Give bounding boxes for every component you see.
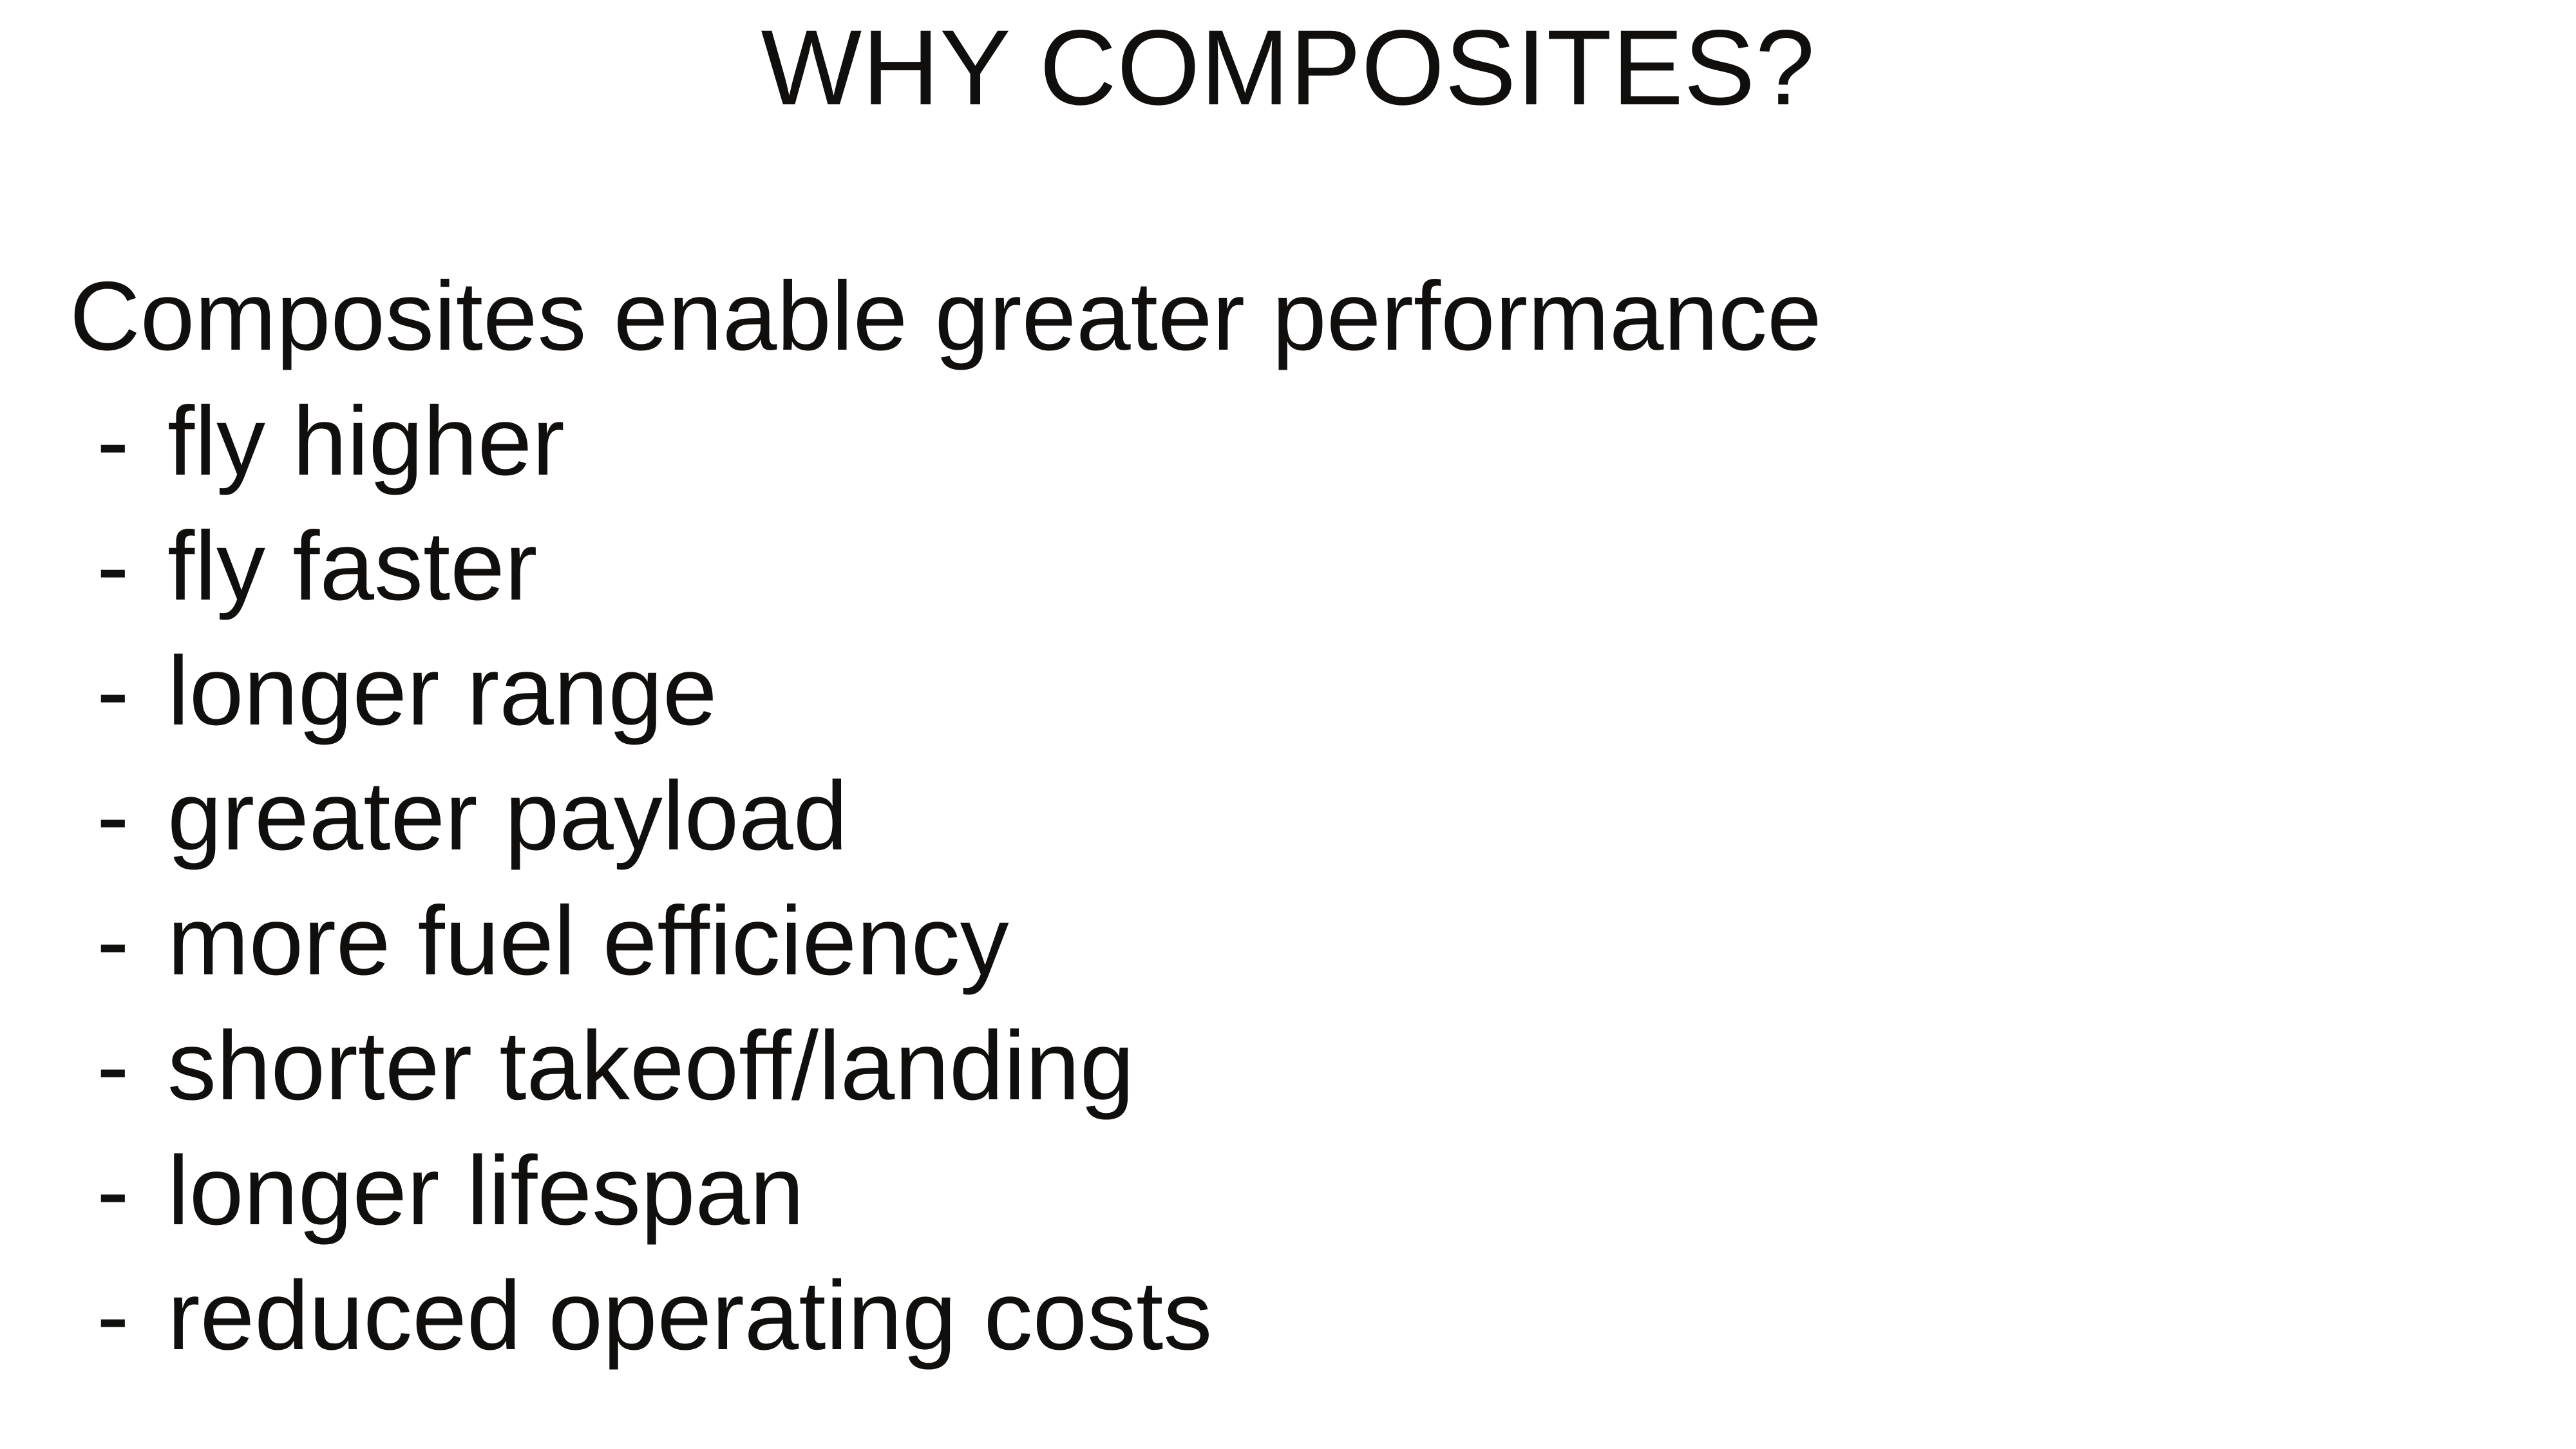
- list-item-label: shorter takeoff/landing: [167, 1003, 1134, 1128]
- list-item-label: longer range: [167, 629, 717, 753]
- dash-bullet-icon: -: [70, 753, 167, 878]
- slide-title: WHY COMPOSITES?: [0, 0, 2576, 137]
- list-item-label: greater payload: [167, 753, 848, 878]
- dash-bullet-icon: -: [70, 504, 167, 629]
- list-item-label: fly faster: [167, 504, 537, 629]
- lead-statement: Composites enable greater performance: [70, 254, 2517, 379]
- dash-bullet-icon: -: [70, 1128, 167, 1253]
- list-item: - more fuel efficiency: [70, 878, 2517, 1003]
- dash-bullet-icon: -: [70, 629, 167, 753]
- list-item-label: fly higher: [167, 379, 565, 504]
- list-item: - fly higher: [70, 379, 2517, 504]
- list-item: - shorter takeoff/landing: [70, 1003, 2517, 1128]
- list-item-label: reduced operating costs: [167, 1253, 1212, 1378]
- dash-bullet-icon: -: [70, 1253, 167, 1378]
- list-item: - greater payload: [70, 753, 2517, 878]
- list-item: - longer lifespan: [70, 1128, 2517, 1253]
- dash-bullet-icon: -: [70, 878, 167, 1003]
- presentation-slide: WHY COMPOSITES? Composites enable greate…: [0, 0, 2576, 1449]
- list-item: - longer range: [70, 629, 2517, 753]
- list-item: - fly faster: [70, 504, 2517, 629]
- list-item-label: longer lifespan: [167, 1128, 804, 1253]
- benefits-bullet-list: - fly higher - fly faster - longer range…: [70, 379, 2517, 1378]
- dash-bullet-icon: -: [70, 1003, 167, 1128]
- dash-bullet-icon: -: [70, 379, 167, 504]
- list-item-label: more fuel efficiency: [167, 878, 1009, 1003]
- list-item: - reduced operating costs: [70, 1253, 2517, 1378]
- slide-body: Composites enable greater performance - …: [70, 254, 2517, 1378]
